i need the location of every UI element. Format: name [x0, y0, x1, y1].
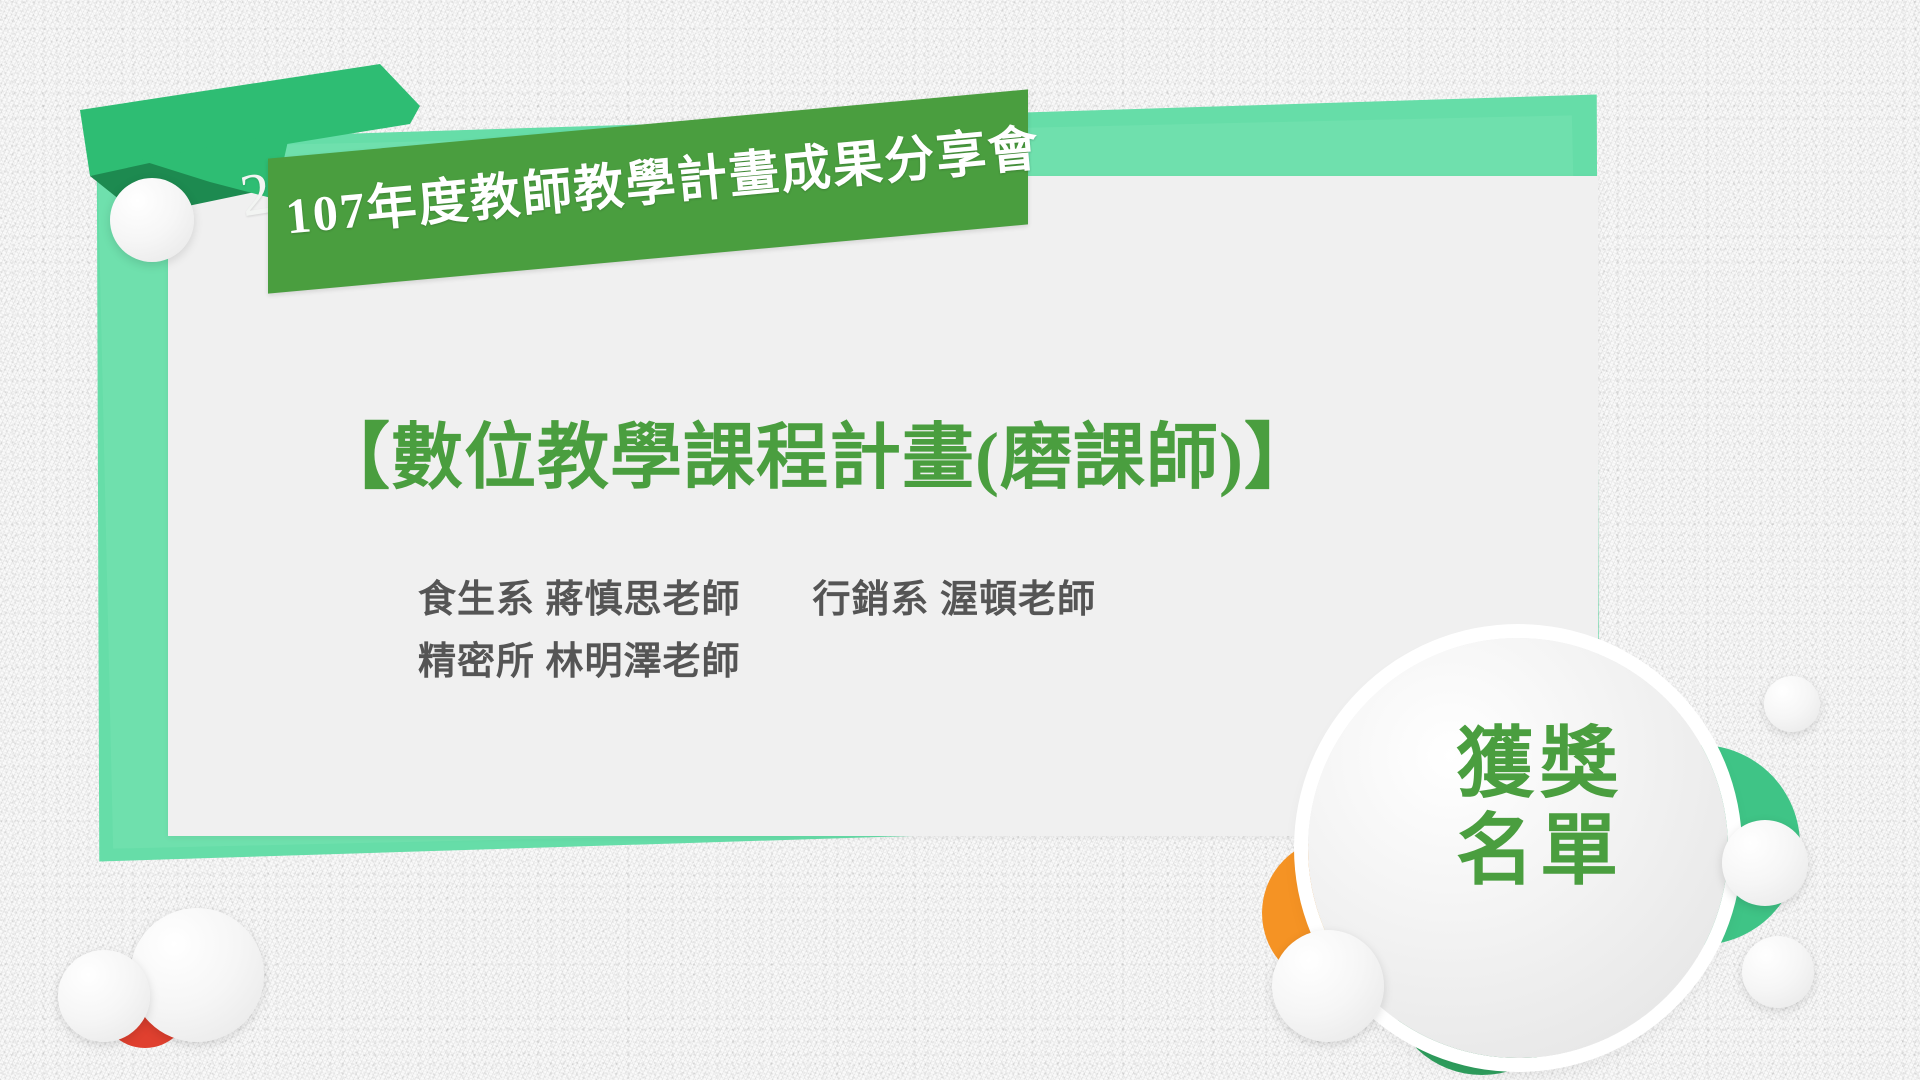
decorative-bubble-right-lower [1742, 936, 1814, 1008]
teacher-row: 食生系 蔣慎思老師行銷系 渥頓老師 [418, 570, 1096, 632]
decorative-bubble-bottom-left-large [130, 908, 264, 1042]
teacher-entry-1: 食生系 蔣慎思老師 [418, 579, 741, 621]
decorative-bubble-right-upper [1722, 820, 1808, 906]
teacher-row: 精密所 林明澤老師 [418, 632, 1096, 694]
teacher-entry-3: 精密所 林明澤老師 [418, 641, 741, 683]
poster-canvas: 2018 107年度教師教學計畫成果分享會 【數位教學課程計畫(磨課師)】 食生… [0, 0, 1920, 1080]
decorative-bubble-bottom-right-large [1272, 930, 1384, 1042]
award-badge-line-2: 名單 [1420, 807, 1660, 894]
teacher-list: 食生系 蔣慎思老師行銷系 渥頓老師 精密所 林明澤老師 [418, 570, 1096, 693]
decorative-bubble-right-edge [1764, 676, 1820, 732]
page-title: 【數位教學課程計畫(磨課師)】 [318, 398, 1317, 503]
award-badge-label: 獲獎 名單 [1420, 720, 1660, 895]
teacher-entry-2: 行銷系 渥頓老師 [813, 579, 1097, 621]
decorative-bubble-bottom-left-small [58, 950, 150, 1042]
decorative-bubble-top-left [110, 178, 194, 262]
award-badge-line-1: 獲獎 [1420, 720, 1660, 807]
